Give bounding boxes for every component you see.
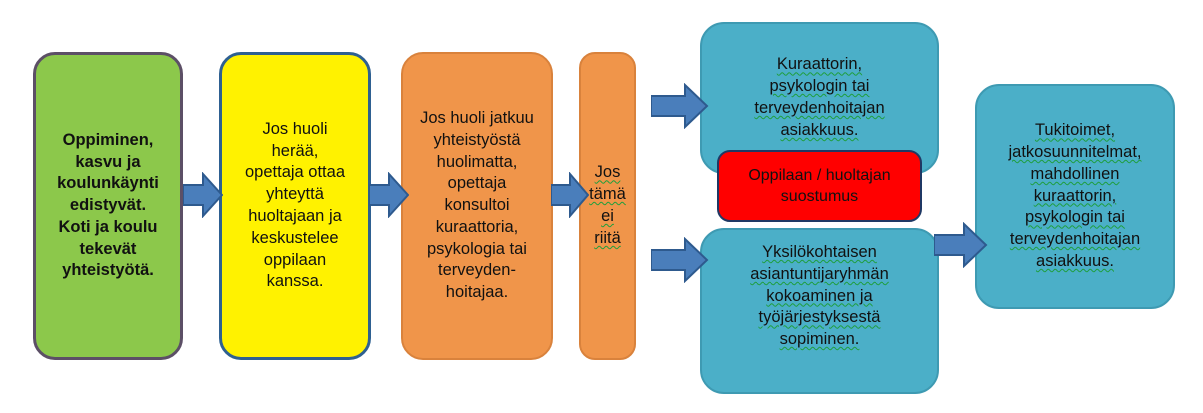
arrow-notenough-to-client-relationship bbox=[651, 83, 709, 129]
node-consultation[interactable]: Jos huoli jatkuu yhteistyöstä huolimatta… bbox=[401, 52, 553, 360]
arrow-notenough-to-expert-group bbox=[651, 237, 709, 283]
node-expert-group[interactable]: Yksilökohtaisen asiantuntijaryhmän kokoa… bbox=[700, 228, 939, 394]
arrow-expert-group-to-support bbox=[934, 222, 988, 268]
arrow-start-to-concern bbox=[183, 172, 223, 218]
node-consent[interactable]: Oppilaan / huoltajan suostumus bbox=[717, 150, 922, 222]
node-start[interactable]: Oppiminen, kasvu ja koulunkäynti edistyv… bbox=[33, 52, 183, 360]
node-concern-raised[interactable]: Jos huoli herää, opettaja ottaa yhteyttä… bbox=[219, 52, 371, 360]
flowchart-canvas: Oppiminen, kasvu ja koulunkäynti edistyv… bbox=[0, 0, 1203, 413]
arrow-consultation-to-notenough bbox=[551, 172, 589, 218]
node-support-measures[interactable]: Tukitoimet, jatkosuunnitelmat, mahdollin… bbox=[975, 84, 1175, 309]
arrow-concern-to-consultation bbox=[369, 172, 409, 218]
